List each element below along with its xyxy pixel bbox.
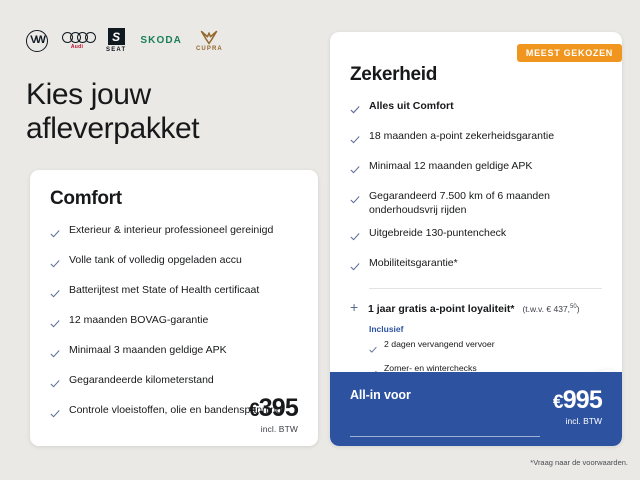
feature-text: Gegarandeerd 7.500 km of 6 maanden onder…: [369, 189, 602, 217]
all-in-label: All-in voor: [350, 388, 411, 402]
zekerheid-package-card[interactable]: MEEST GEKOZEN Zekerheid Alles uit Comfor…: [330, 32, 622, 446]
price-amount: 995: [563, 386, 602, 414]
audi-logo: Audi: [62, 32, 92, 50]
loyalty-value-prefix: (t.w.v. € 437,: [522, 304, 570, 314]
footer-rule: [350, 436, 540, 437]
feature-text: Gegarandeerde kilometerstand: [69, 373, 214, 387]
cupra-wordmark: CUPRA: [196, 46, 223, 52]
loyalty-row: + 1 jaar gratis a-point loyaliteit* (t.w…: [350, 300, 602, 315]
check-icon: [50, 376, 60, 394]
seat-s-icon: S: [108, 28, 125, 45]
disclaimer-text: *Vraag naar de voorwaarden.: [530, 458, 628, 467]
loyalty-value-suffix: ): [577, 304, 580, 314]
check-icon: [50, 286, 60, 304]
loyalty-title: 1 jaar gratis a-point loyaliteit*: [368, 303, 514, 315]
list-item: Gegarandeerde kilometerstand: [50, 373, 298, 394]
feature-text: Exterieur & interieur professioneel gere…: [69, 223, 273, 237]
comfort-price-block: €395 incl. BTW: [249, 396, 298, 434]
check-icon: [350, 192, 360, 210]
feature-text: 12 maanden BOVAG-garantie: [69, 313, 208, 327]
seat-logo: S SEAT: [106, 28, 126, 53]
check-icon: [350, 102, 360, 120]
check-icon: [50, 406, 60, 424]
feature-text: 18 maanden a-point zekerheidsgarantie: [369, 129, 554, 143]
zekerheid-price: €995: [553, 388, 602, 413]
skoda-logo: SKODA: [140, 35, 182, 46]
list-item: Batterijtest met State of Health certifi…: [50, 283, 298, 304]
vw-ring-icon: VW: [26, 30, 48, 52]
list-item: Uitgebreide 130-puntencheck: [350, 226, 602, 247]
check-icon: [50, 346, 60, 364]
status-badge: MEEST GEKOZEN: [517, 44, 622, 62]
volkswagen-logo: VW: [26, 30, 48, 52]
check-icon: [50, 226, 60, 244]
plus-icon: +: [350, 300, 360, 314]
feature-text: Uitgebreide 130-puntencheck: [369, 226, 506, 240]
delivery-package-promo: VW Audi S SEAT SKODA CUPRA Kies jouw afl…: [0, 0, 640, 480]
list-item: Volle tank of volledig opgeladen accu: [50, 253, 298, 274]
brand-logo-strip: VW Audi S SEAT SKODA CUPRA: [26, 28, 223, 53]
cupra-logo: CUPRA: [196, 30, 223, 52]
feature-text: Mobiliteitsgarantie*: [369, 256, 458, 270]
comfort-package-card[interactable]: Comfort Exterieur & interieur profession…: [30, 170, 318, 446]
zekerheid-title: Zekerheid: [350, 64, 602, 86]
skoda-wordmark: SKODA: [140, 35, 182, 46]
list-item: Mobiliteitsgarantie*: [350, 256, 602, 277]
comfort-title: Comfort: [50, 188, 298, 210]
list-item: Exterieur & interieur professioneel gere…: [50, 223, 298, 244]
feature-text: Minimaal 12 maanden geldige APK: [369, 159, 532, 173]
feature-text: Batterijtest met State of Health certifi…: [69, 283, 259, 297]
list-item: 18 maanden a-point zekerheidsgarantie: [350, 129, 602, 150]
comfort-price: €395: [249, 396, 298, 421]
list-item: 2 dagen vervangend vervoer: [369, 339, 602, 359]
audi-wordmark: Audi: [71, 44, 83, 50]
check-icon: [369, 341, 377, 359]
feature-text: Alles uit Comfort: [369, 99, 454, 113]
page-title: Kies jouw afleverpakket: [26, 78, 296, 145]
divider: [369, 288, 602, 289]
list-item: Gegarandeerd 7.500 km of 6 maanden onder…: [350, 189, 602, 217]
check-icon: [350, 229, 360, 247]
currency-symbol: €: [553, 392, 563, 413]
feature-text: Volle tank of volledig opgeladen accu: [69, 253, 242, 267]
seat-wordmark: SEAT: [106, 47, 126, 53]
included-heading: Inclusief: [369, 324, 602, 334]
currency-symbol: €: [249, 400, 259, 421]
included-text: 2 dagen vervangend vervoer: [384, 339, 495, 350]
loyalty-value: (t.w.v. € 437,50): [522, 304, 579, 314]
zekerheid-price-note: incl. BTW: [553, 416, 602, 426]
zekerheid-price-footer: All-in voor €995 incl. BTW: [330, 372, 622, 446]
price-amount: 395: [259, 394, 298, 422]
list-item: 12 maanden BOVAG-garantie: [50, 313, 298, 334]
footer-row: All-in voor €995 incl. BTW: [350, 388, 602, 426]
check-icon: [350, 132, 360, 150]
check-icon: [50, 316, 60, 334]
check-icon: [350, 162, 360, 180]
loyalty-value-cents: 50: [570, 305, 577, 311]
feature-text: Minimaal 3 maanden geldige APK: [69, 343, 227, 357]
cupra-tribal-icon: [200, 30, 218, 45]
check-icon: [50, 256, 60, 274]
footer-price-block: €995 incl. BTW: [553, 388, 602, 426]
list-item: Minimaal 12 maanden geldige APK: [350, 159, 602, 180]
check-icon: [350, 259, 360, 277]
comfort-price-note: incl. BTW: [249, 424, 298, 434]
audi-rings-icon: [62, 32, 92, 43]
zekerheid-feature-list: Alles uit Comfort 18 maanden a-point zek…: [350, 99, 602, 277]
list-item: Alles uit Comfort: [350, 99, 602, 120]
list-item: Minimaal 3 maanden geldige APK: [50, 343, 298, 364]
